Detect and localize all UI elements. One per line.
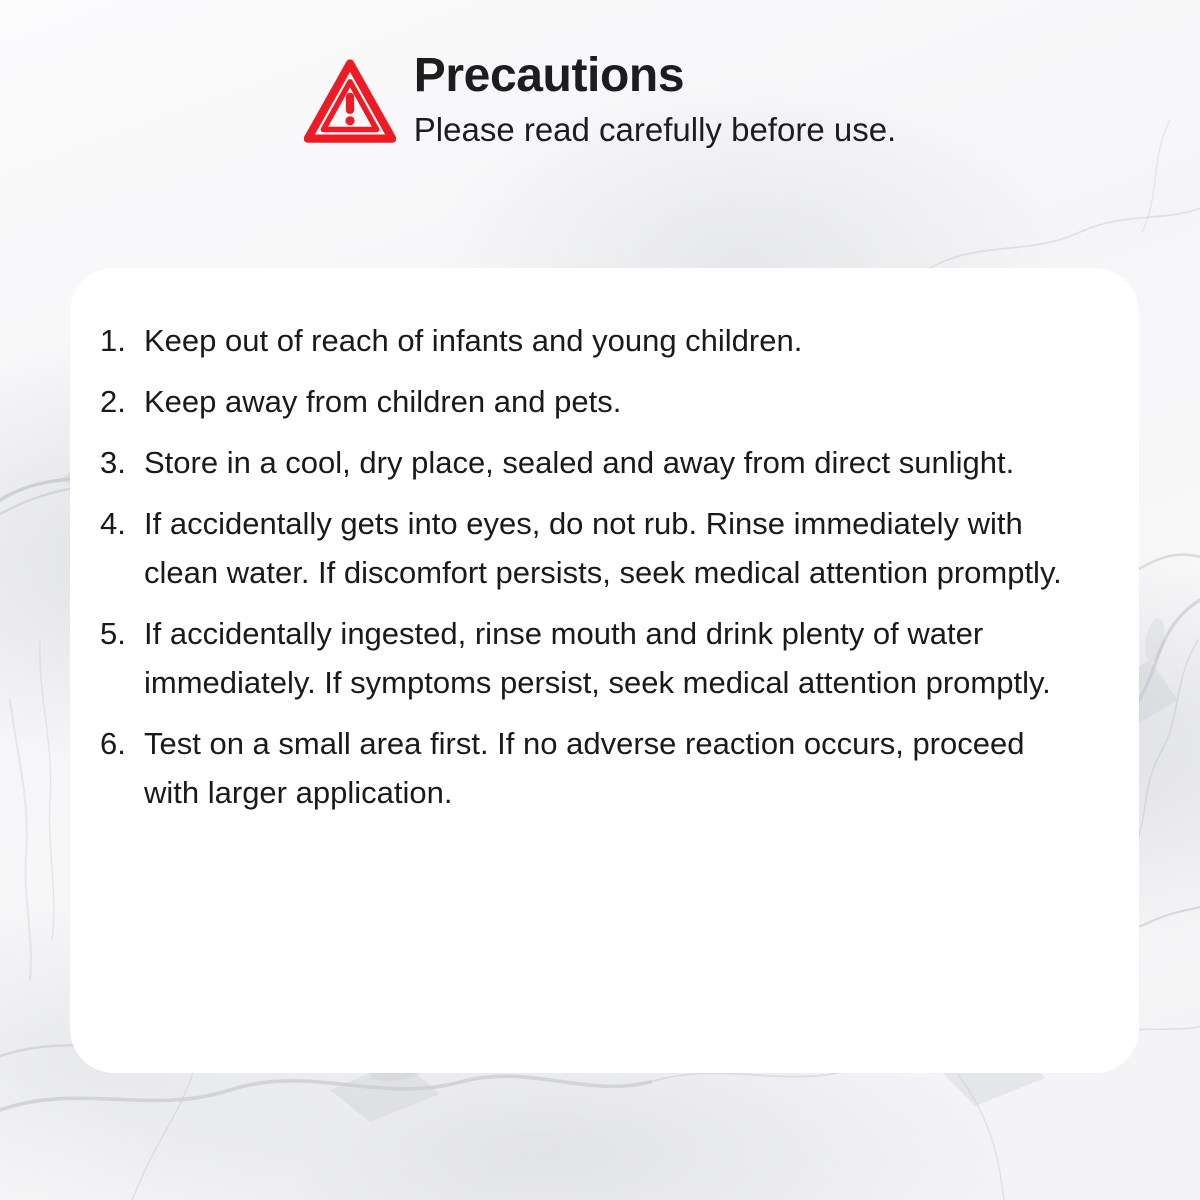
list-item: 2. Keep away from children and pets. bbox=[100, 377, 1115, 426]
list-item-number: 6. bbox=[100, 719, 144, 768]
list-item-number: 2. bbox=[100, 377, 144, 426]
precautions-list: 1. Keep out of reach of infants and youn… bbox=[100, 316, 1115, 829]
list-item-number: 1. bbox=[100, 316, 144, 365]
list-item: 4. If accidentally gets into eyes, do no… bbox=[100, 499, 1115, 597]
header-text-block: Precautions Please read carefully before… bbox=[414, 52, 896, 146]
list-item-text: Store in a cool, dry place, sealed and a… bbox=[144, 438, 1064, 487]
list-item-number: 5. bbox=[100, 609, 144, 658]
page-title: Precautions bbox=[414, 52, 684, 100]
list-item-number: 3. bbox=[100, 438, 144, 487]
precautions-page: Precautions Please read carefully before… bbox=[0, 0, 1200, 1200]
list-item-text: Keep out of reach of infants and young c… bbox=[144, 316, 1064, 365]
page-header: Precautions Please read carefully before… bbox=[0, 52, 1200, 146]
warning-triangle-icon bbox=[304, 58, 396, 146]
list-item: 5. If accidentally ingested, rinse mouth… bbox=[100, 609, 1115, 707]
list-item-text: If accidentally gets into eyes, do not r… bbox=[144, 499, 1064, 597]
list-item: 3. Store in a cool, dry place, sealed an… bbox=[100, 438, 1115, 487]
precautions-card: 1. Keep out of reach of infants and youn… bbox=[70, 268, 1139, 1073]
list-item-text: Test on a small area first. If no advers… bbox=[144, 719, 1064, 817]
list-item-text: Keep away from children and pets. bbox=[144, 377, 1064, 426]
list-item: 1. Keep out of reach of infants and youn… bbox=[100, 316, 1115, 365]
list-item: 6. Test on a small area first. If no adv… bbox=[100, 719, 1115, 817]
list-item-text: If accidentally ingested, rinse mouth an… bbox=[144, 609, 1064, 707]
page-subtitle: Please read carefully before use. bbox=[414, 113, 896, 146]
list-item-number: 4. bbox=[100, 499, 144, 548]
